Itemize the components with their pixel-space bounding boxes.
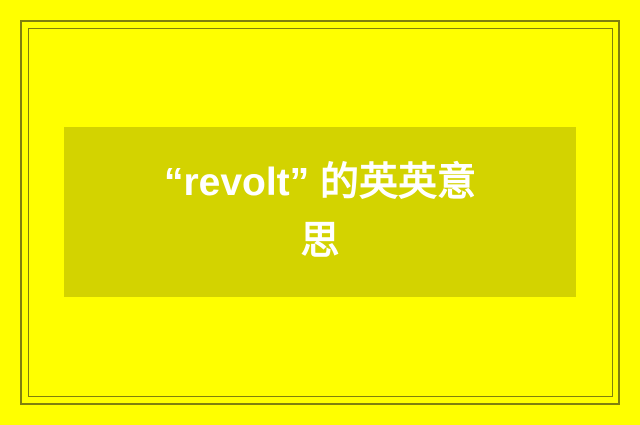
page-title: “revolt” 的英英意思 (155, 153, 485, 272)
title-panel: “revolt” 的英英意思 (64, 127, 576, 297)
poster-canvas: “revolt” 的英英意思 (0, 0, 640, 425)
